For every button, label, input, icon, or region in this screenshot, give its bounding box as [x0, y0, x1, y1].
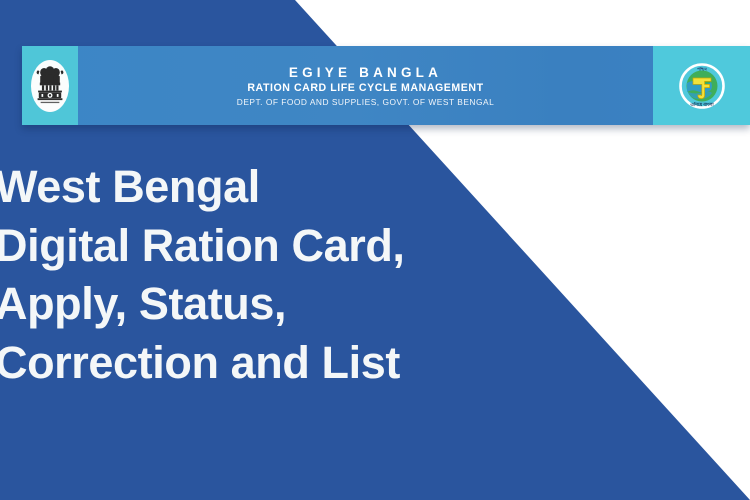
- svg-text:পশ্চিম: পশ্চিম: [697, 66, 707, 71]
- page-title: West Bengal Digital Ration Card, Apply, …: [0, 158, 405, 392]
- west-bengal-egiye-bangla-logo-icon: পশ্চিম এগিয়ে বাংলা: [677, 61, 727, 111]
- india-national-emblem-icon: [31, 60, 69, 112]
- headline-line-2: Digital Ration Card,: [0, 217, 405, 276]
- headline-line-1: West Bengal: [0, 158, 405, 217]
- banner-left-emblem-panel: [22, 46, 78, 125]
- banner-title: EGIYE BANGLA: [289, 66, 442, 81]
- svg-text:এগিয়ে বাংলা: এগিয়ে বাংলা: [690, 102, 714, 107]
- government-header-banner: EGIYE BANGLA RATION CARD LIFE CYCLE MANA…: [22, 46, 750, 125]
- headline-line-4: Correction and List: [0, 334, 405, 393]
- banner-subtitle-secondary: DEPT. OF FOOD AND SUPPLIES, GOVT. OF WES…: [237, 98, 494, 107]
- page-root: EGIYE BANGLA RATION CARD LIFE CYCLE MANA…: [0, 0, 750, 500]
- banner-text-block: EGIYE BANGLA RATION CARD LIFE CYCLE MANA…: [78, 46, 653, 125]
- banner-subtitle-primary: RATION CARD LIFE CYCLE MANAGEMENT: [247, 83, 483, 95]
- banner-right-logo-panel: পশ্চিম এগিয়ে বাংলা: [653, 46, 750, 125]
- headline-line-3: Apply, Status,: [0, 275, 405, 334]
